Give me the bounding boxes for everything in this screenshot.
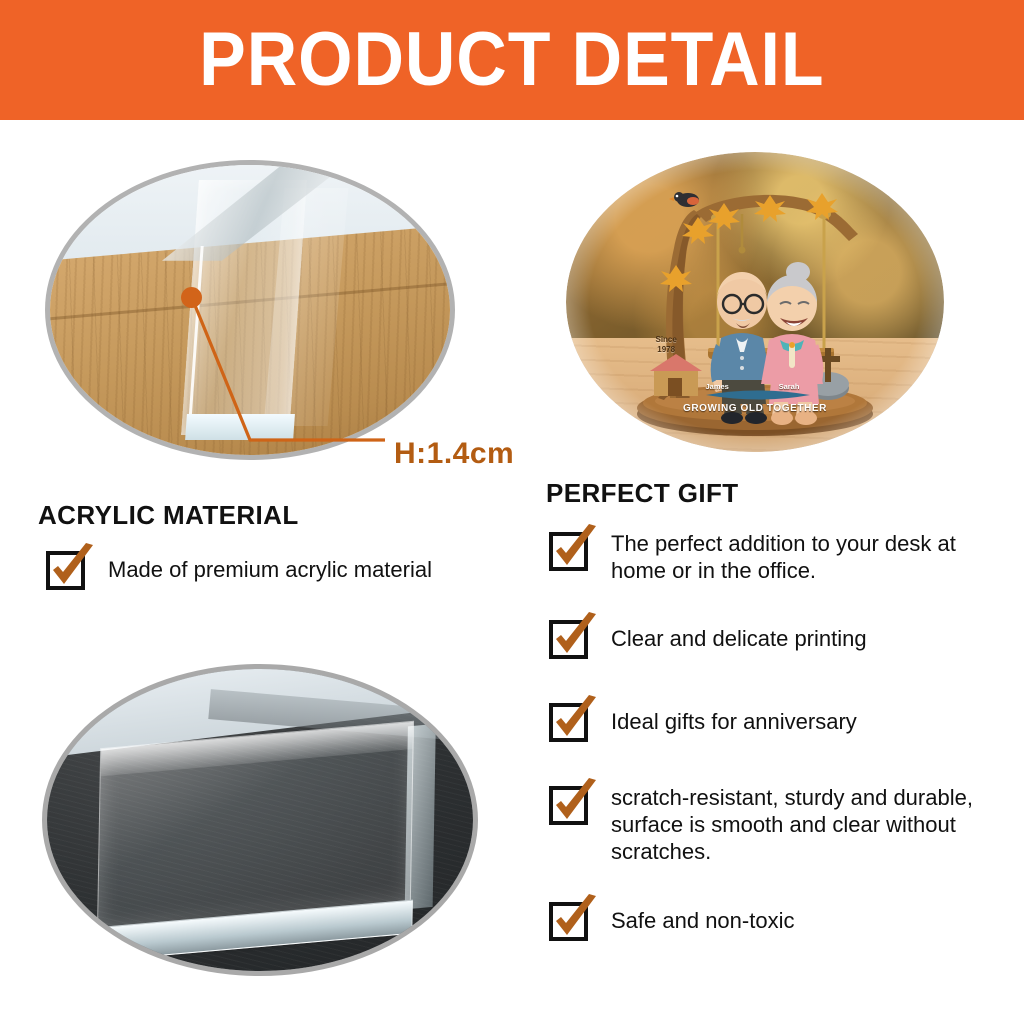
feature-text: scratch-resistant, sturdy and durable, s… [611,784,1009,865]
check-mark-icon [45,543,97,595]
checkbox-checked-icon [549,902,588,941]
since-year-sign: Since 1978 [636,335,696,355]
checkbox-checked-icon [46,551,85,590]
check-mark-icon [548,894,600,946]
check-mark-icon [548,695,600,747]
feature-text: The perfect addition to your desk at hom… [611,530,1009,584]
acrylic-block-photo-content [47,669,473,971]
product-photo: Since 1978 James Sarah GROWING OLD TOGET… [566,152,944,452]
feature-text: Clear and delicate printing [611,625,867,652]
thickness-callout-leader-line [40,150,520,480]
thickness-callout-dot [181,287,202,308]
checkbox-checked-icon [549,786,588,825]
page-header-banner: PRODUCT DETAIL [0,0,1024,120]
feature-item-safe-non-toxic: Safe and non-toxic [549,902,1009,941]
thickness-callout-label: H:1.4cm [394,437,514,471]
feature-text: Made of premium acrylic material [108,556,432,583]
name-plaque-right: Sarah [755,382,823,391]
acrylic-block [97,721,414,931]
feature-item-scratch-resistant: scratch-resistant, sturdy and durable, s… [549,786,1009,865]
checkbox-checked-icon [549,532,588,571]
page-title: PRODUCT DETAIL [199,22,824,98]
feature-item-clear-printing: Clear and delicate printing [549,620,1009,659]
feature-text: Safe and non-toxic [611,907,794,934]
check-mark-icon [548,778,600,830]
block-top-face [97,721,414,931]
section-heading-perfect-gift: PERFECT GIFT [546,478,739,509]
feature-item-desk-addition: The perfect addition to your desk at hom… [549,532,1009,584]
checkbox-checked-icon [549,703,588,742]
feature-item-acrylic-material: Made of premium acrylic material [46,551,516,590]
feature-text: Ideal gifts for anniversary [611,708,857,735]
acrylic-block-photo [42,664,478,976]
product-photo-oval: Since 1978 James Sarah GROWING OLD TOGET… [566,152,944,452]
check-mark-icon [548,524,600,576]
checkbox-checked-icon [549,620,588,659]
base-engraved-text: GROWING OLD TOGETHER [664,403,845,414]
check-mark-icon [548,612,600,664]
section-heading-acrylic-material: ACRYLIC MATERIAL [38,500,299,531]
feature-item-anniversary-gift: Ideal gifts for anniversary [549,703,1009,742]
name-plaque-left: James [683,382,751,391]
